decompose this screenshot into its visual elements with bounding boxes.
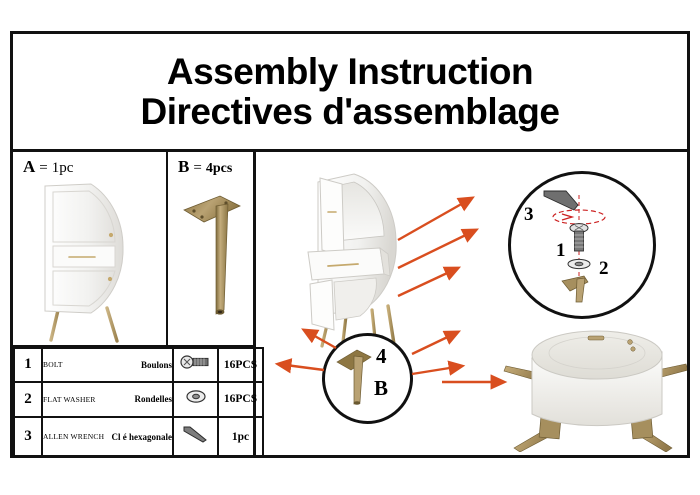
part-legend-row: A = 1pc bbox=[13, 152, 253, 347]
part-a-qty: 1pc bbox=[52, 160, 74, 176]
page-title-french: Directives d'assemblage bbox=[141, 92, 560, 131]
title-band: Assembly Instruction Directives d'assemb… bbox=[13, 34, 687, 152]
fastener-stack-illustration bbox=[518, 181, 640, 303]
row-name-en: ALLEN WRENCH bbox=[43, 432, 104, 441]
angled-leg-icon bbox=[180, 184, 250, 334]
row-name-en: FLAT WASHER bbox=[43, 395, 96, 404]
assembly-arrows-upper bbox=[396, 192, 516, 302]
part-b-equals: = bbox=[193, 160, 201, 176]
illustration-panel: 3 1 2 4 B bbox=[256, 152, 687, 458]
table-row: 1 BOLT Boulons bbox=[14, 348, 263, 382]
part-a-code: A bbox=[23, 157, 35, 176]
table-row: 2 FLAT WASHER Rondelles bbox=[14, 382, 263, 417]
hardware-table: 1 BOLT Boulons bbox=[13, 347, 264, 458]
row-number: 3 bbox=[14, 417, 42, 457]
part-a-label: A = 1pc bbox=[23, 157, 73, 177]
page-title-english: Assembly Instruction bbox=[167, 52, 533, 91]
row-name-fr: Rondelles bbox=[134, 394, 172, 404]
callout-label-wrench: 3 bbox=[524, 204, 534, 226]
instruction-sheet: Assembly Instruction Directives d'assemb… bbox=[0, 0, 700, 495]
callout-label-washer: 2 bbox=[599, 258, 609, 280]
allen-wrench-icon bbox=[173, 417, 218, 457]
row-name-fr: Boulons bbox=[141, 360, 172, 370]
row-number: 1 bbox=[14, 348, 42, 382]
bolt-icon bbox=[173, 348, 218, 382]
part-b-qty: 4pcs bbox=[206, 161, 232, 176]
half-moon-cabinet-icon bbox=[31, 180, 151, 343]
instruction-frame: Assembly Instruction Directives d'assemb… bbox=[10, 31, 690, 458]
table-row: 3 ALLEN WRENCH Cl é hexagonale bbox=[14, 417, 263, 457]
row-name: ALLEN WRENCH Cl é hexagonale bbox=[42, 417, 173, 457]
row-number: 2 bbox=[14, 382, 42, 417]
washer-icon bbox=[173, 382, 218, 417]
parts-legend-panel: A = 1pc bbox=[13, 152, 256, 458]
row-name: BOLT Boulons bbox=[42, 348, 173, 382]
part-a-cell: A = 1pc bbox=[13, 152, 168, 345]
part-a-equals: = bbox=[39, 160, 47, 176]
row-name-fr: Cl é hexagonale bbox=[112, 432, 173, 442]
part-b-label: B = 4pcs bbox=[178, 157, 232, 177]
callout-label-bolt: 1 bbox=[556, 240, 566, 262]
row-name: FLAT WASHER Rondelles bbox=[42, 382, 173, 417]
assembled-cabinet-illustration bbox=[500, 322, 687, 452]
part-b-code: B bbox=[178, 157, 189, 176]
part-b-cell: B = 4pcs bbox=[168, 152, 253, 345]
row-name-en: BOLT bbox=[43, 360, 63, 369]
